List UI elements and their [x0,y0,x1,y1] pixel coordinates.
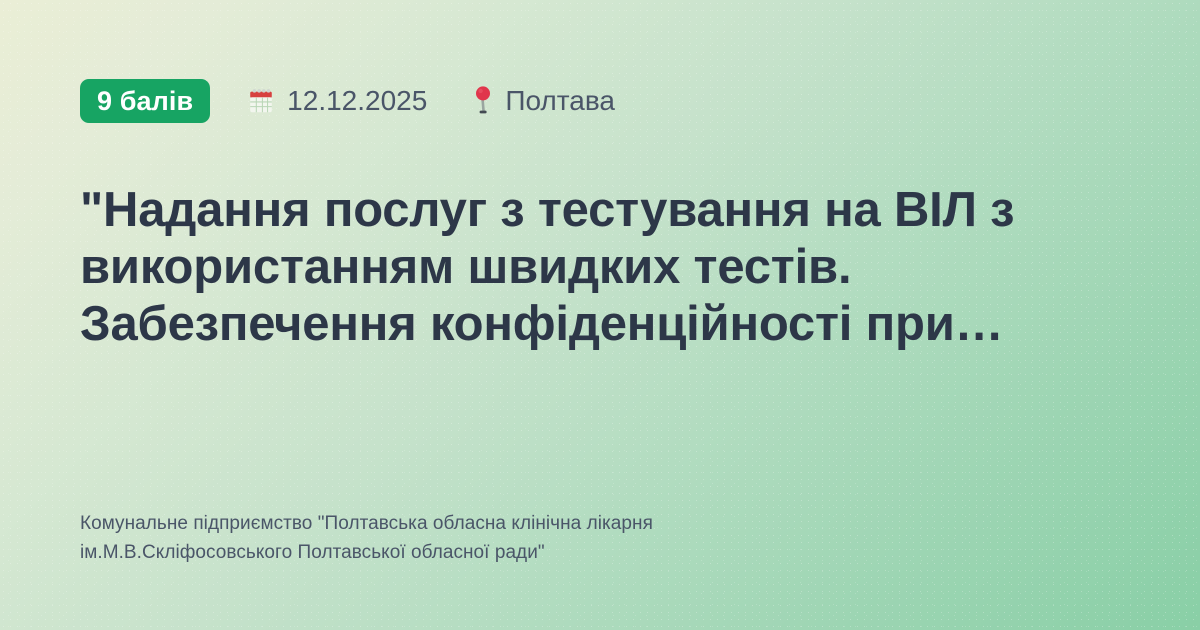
location-value: Полтава [505,87,615,115]
page-title: "Надання послуг з тестування на ВІЛ з ви… [80,182,1126,352]
score-badge: 9 балів [80,79,210,123]
date-value: 12.12.2025 [287,87,427,115]
date-meta: 12.12.2025 [246,86,427,116]
map-pin-icon [472,85,494,117]
calendar-icon [246,86,276,116]
organization-line-2: ім.М.В.Скліфосовського Полтавської облас… [80,539,960,568]
organization-name: Комунальне підприємство "Полтавська обла… [80,510,960,568]
organization-line-1: Комунальне підприємство "Полтавська обла… [80,510,960,539]
location-meta: Полтава [472,85,615,117]
meta-row: 9 балів [80,78,1126,124]
preview-card: 9 балів [0,0,1200,630]
